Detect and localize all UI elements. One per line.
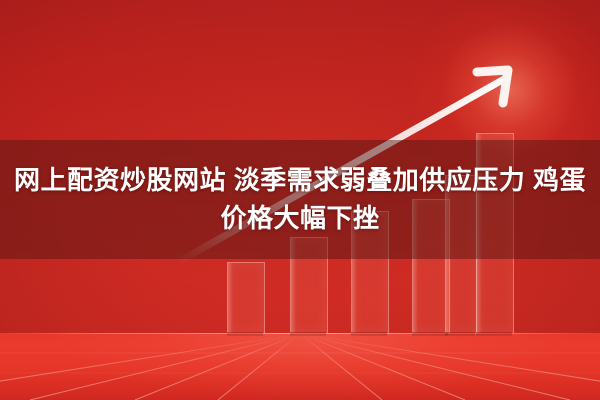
page-title: 网上配资炒股网站 淡季需求弱叠加供应压力 鸡蛋 价格大幅下挫 bbox=[0, 140, 600, 259]
floor-grid-lines bbox=[0, 333, 600, 400]
banner-image: 网上配资炒股网站 淡季需求弱叠加供应压力 鸡蛋 价格大幅下挫 bbox=[0, 0, 600, 400]
perspective-floor bbox=[0, 333, 600, 400]
headline-line-2: 价格大幅下挫 bbox=[220, 202, 379, 236]
headline-line-1: 网上配资炒股网站 淡季需求弱叠加供应压力 鸡蛋 bbox=[14, 164, 586, 198]
